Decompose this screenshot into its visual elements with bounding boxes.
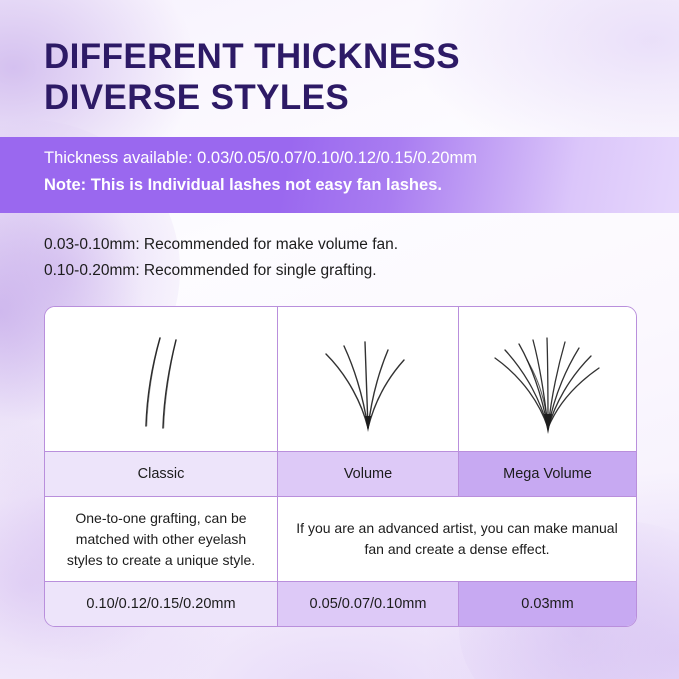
classic-illustration-cell xyxy=(45,307,278,452)
label-cell-classic: Classic xyxy=(45,452,278,497)
thickness-banner: Thickness available: 0.03/0.05/0.07/0.10… xyxy=(0,137,679,213)
classic-lash-icon xyxy=(116,320,206,438)
description-cell-volume-merged: If you are an advanced artist, you can m… xyxy=(278,497,636,582)
page-title-line-1: DIFFERENT THICKNESS xyxy=(44,36,644,77)
table-row-illustrations xyxy=(45,307,636,452)
banner-note-line: Note: This is Individual lashes not easy… xyxy=(44,176,442,195)
mega-volume-illustration-cell xyxy=(459,307,636,452)
recommendation-text: 0.03-0.10mm: Recommended for make volume… xyxy=(44,232,644,284)
thickness-cell-classic: 0.10/0.12/0.15/0.20mm xyxy=(45,582,278,626)
banner-thickness-line: Thickness available: 0.03/0.05/0.07/0.10… xyxy=(44,149,477,168)
page-title: DIFFERENT THICKNESS DIVERSE STYLES xyxy=(44,36,644,118)
label-cell-volume: Volume xyxy=(278,452,459,497)
label-cell-mega-volume: Mega Volume xyxy=(459,452,636,497)
mega-volume-fan-icon xyxy=(483,320,613,438)
page-title-line-2: DIVERSE STYLES xyxy=(44,77,644,118)
thickness-cell-volume: 0.05/0.07/0.10mm xyxy=(278,582,459,626)
table-row-thickness: 0.10/0.12/0.15/0.20mm 0.05/0.07/0.10mm 0… xyxy=(45,582,636,626)
table-row-descriptions: One-to-one grafting, can be matched with… xyxy=(45,497,636,582)
recommendation-line-1: 0.03-0.10mm: Recommended for make volume… xyxy=(44,232,644,258)
volume-fan-icon xyxy=(308,320,428,438)
table-row-labels: Classic Volume Mega Volume xyxy=(45,452,636,497)
volume-illustration-cell xyxy=(278,307,459,452)
thickness-cell-mega-volume: 0.03mm xyxy=(459,582,636,626)
infographic-page: DIFFERENT THICKNESS DIVERSE STYLES Thick… xyxy=(0,0,679,679)
description-cell-classic: One-to-one grafting, can be matched with… xyxy=(45,497,278,582)
lash-comparison-table: Classic Volume Mega Volume One-to-one gr… xyxy=(44,306,637,627)
recommendation-line-2: 0.10-0.20mm: Recommended for single graf… xyxy=(44,258,644,284)
